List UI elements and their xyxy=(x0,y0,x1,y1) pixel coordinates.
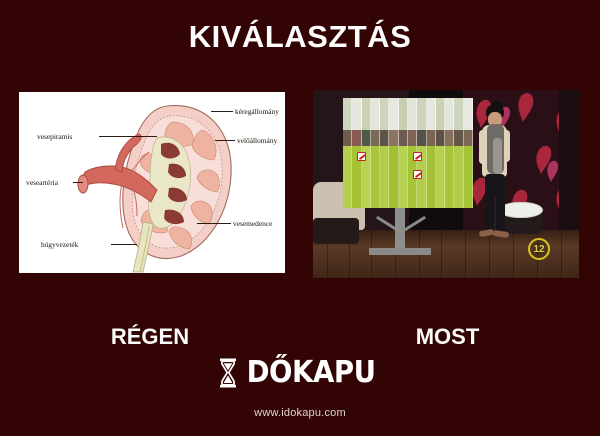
label-medence: vesemedence xyxy=(233,219,272,228)
brand-logo: DŐKAPU xyxy=(0,358,600,388)
contestant-board xyxy=(343,98,473,208)
label-line-kereg xyxy=(211,111,233,112)
label-line-piramis xyxy=(99,136,157,137)
brand-logo-text: DŐKAPU xyxy=(246,358,375,388)
contestant-photos xyxy=(343,130,473,146)
board-stand-post xyxy=(395,208,405,252)
presenter-shoe-right xyxy=(493,230,510,238)
hourglass-icon xyxy=(219,358,237,388)
studio-wall-right xyxy=(559,90,579,250)
no-entry-sign-icon xyxy=(357,152,366,161)
label-arteria: veseartéria xyxy=(26,178,58,187)
label-line-velo xyxy=(215,140,235,141)
label-hugyvezetek: húgyvezeték xyxy=(41,240,78,249)
caption-before: RÉGEN xyxy=(40,324,260,350)
label-line-hugyvezetek xyxy=(111,244,137,245)
no-entry-sign-icon xyxy=(413,152,422,161)
presenter-leg-gap xyxy=(494,196,496,232)
label-line-medence xyxy=(197,223,231,224)
left-image-panel: kéregállomány velőállomány vesemedence v… xyxy=(19,92,285,273)
label-kereg: kéregállomány xyxy=(235,107,279,116)
page-title: KIVÁLASZTÁS xyxy=(0,20,600,54)
contestant-name-strips xyxy=(343,98,473,130)
board-stand-foot xyxy=(369,248,431,255)
presenter-figure xyxy=(473,104,517,256)
label-piramis: vesepiramis xyxy=(37,132,72,141)
caption-after: MOST xyxy=(340,324,555,350)
kidney-diagram: kéregállomány velőállomány vesemedence v… xyxy=(19,92,285,273)
studio-sofa-base xyxy=(313,218,359,244)
age-rating-badge: 12 xyxy=(528,238,550,260)
no-entry-sign-icon xyxy=(413,170,422,179)
website-url: www.idokapu.com xyxy=(0,406,600,420)
tv-studio-scene: 12 xyxy=(313,90,579,278)
right-image-panel: 12 xyxy=(313,90,579,278)
presenter-scarf-tail xyxy=(493,138,502,174)
label-line-arteria xyxy=(73,182,83,183)
presenter-arm-right xyxy=(503,130,510,162)
poster-root: KIVÁLASZTÁS xyxy=(0,0,600,436)
presenter-arm-left xyxy=(479,130,486,164)
label-velo: velőállomány xyxy=(237,136,277,145)
